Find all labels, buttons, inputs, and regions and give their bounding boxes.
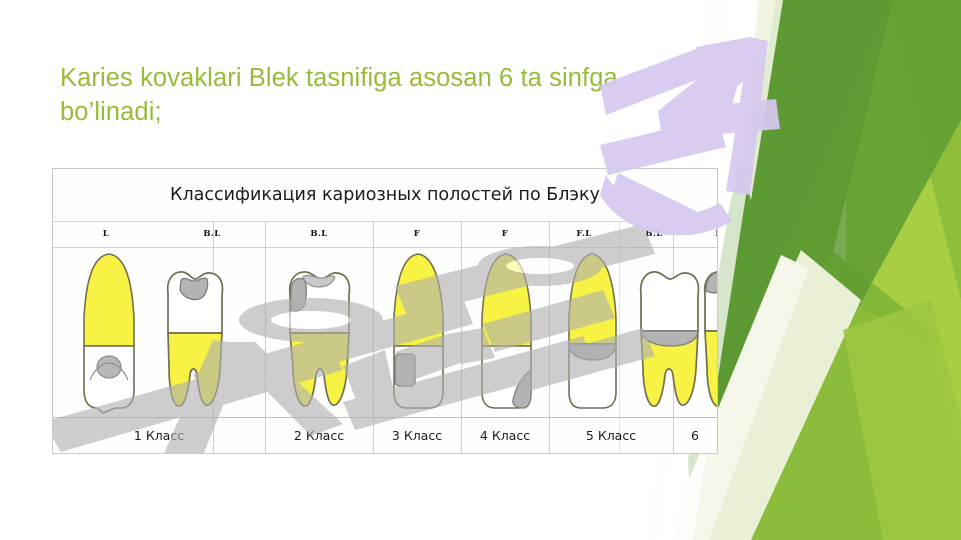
surface-label-bl-2: B.L (265, 222, 373, 247)
tooth-class1-molar (151, 263, 233, 415)
class-label-1: 1 Класс (53, 418, 265, 453)
surface-label-l-1: L (53, 222, 159, 247)
caries-classification-figure: Классификация кариозных полостей по Блэк… (52, 168, 718, 454)
figure-caption: Классификация кариозных полостей по Блэк… (53, 169, 717, 222)
tooth-class1-incisor (73, 250, 145, 415)
tooth-class3-incisor (383, 250, 453, 415)
page-title: Karies kovaklari Blek tasnifiga asosan 6… (60, 62, 710, 130)
tooth-class2-molar (275, 263, 361, 415)
surface-label-row: L B.L B.L F F F.L B.L B.L (53, 222, 717, 248)
tooth-class5-incisor (559, 250, 625, 415)
surface-label-f-1: F (373, 222, 461, 247)
class-label-row: 1 Класс 2 Класс 3 Класс 4 Класс 5 Класс … (53, 417, 717, 453)
class-label-4: 4 Класс (461, 418, 549, 453)
class-label-6: 6 Класс (673, 418, 717, 453)
class-label-3: 3 Класс (373, 418, 461, 453)
surface-label-bl-4: B.L (619, 222, 718, 247)
class-label-2: 2 Класс (265, 418, 373, 453)
class-label-5: 5 Класс (549, 418, 673, 453)
tooth-class4-incisor (471, 250, 541, 415)
teeth-illustrations (53, 248, 717, 417)
slide-canvas: Karies kovaklari Blek tasnifiga asosan 6… (0, 0, 961, 540)
surface-label-f-2: F (461, 222, 549, 247)
surface-label-bl-1: B.L (159, 222, 265, 247)
tooth-class6-molar (689, 263, 718, 415)
surface-label-fl: F.L (549, 222, 619, 247)
